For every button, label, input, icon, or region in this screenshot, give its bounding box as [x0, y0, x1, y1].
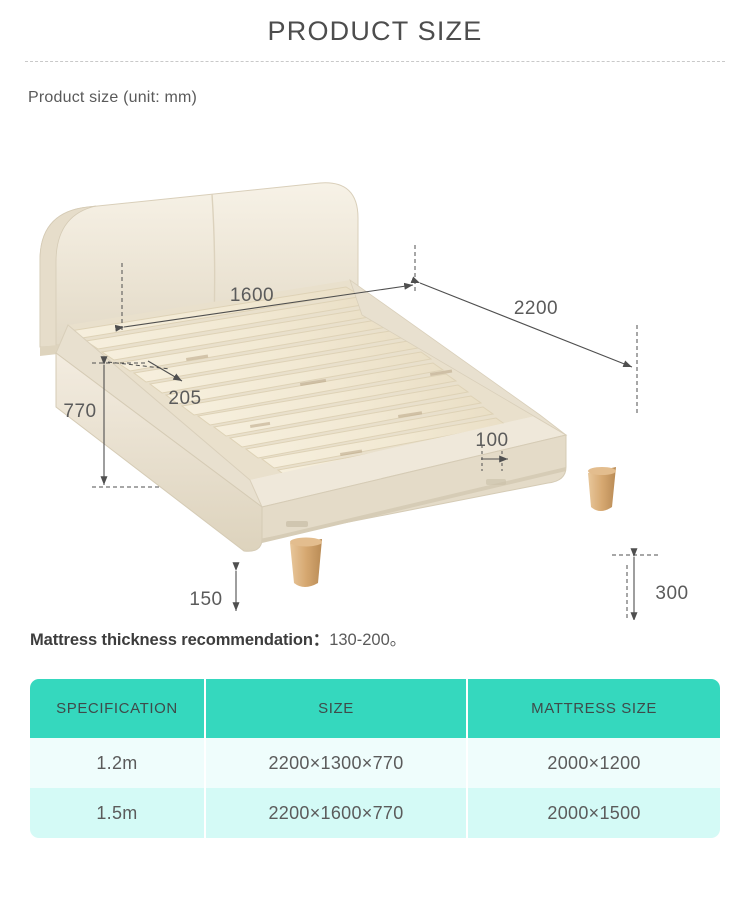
column-header-specification: SPECIFICATION [30, 679, 206, 738]
product-size-page: PRODUCT SIZE Product size (unit: mm) [0, 0, 750, 922]
title-divider [25, 61, 725, 62]
table-row: 1.2m 2200×1300×770 2000×1200 [30, 738, 720, 788]
specification-table: SPECIFICATION SIZE MATTRESS SIZE 1.2m 22… [30, 679, 720, 838]
page-title: PRODUCT SIZE [0, 0, 750, 47]
table-row: 1.5m 2200×1600×770 2000×1500 [30, 788, 720, 838]
cell-specification: 1.2m [30, 738, 206, 788]
column-header-mattress-size: MATTRESS SIZE [468, 679, 720, 738]
dim-headboard-width: 1600 [230, 285, 274, 306]
bed-illustration [40, 183, 616, 587]
dim-base-total-height: 300 [655, 583, 688, 604]
mattress-note-value: 130-200。 [329, 631, 406, 649]
unit-subtitle: Product size (unit: mm) [28, 89, 750, 107]
cell-specification: 1.5m [30, 788, 206, 838]
column-header-size: SIZE [206, 679, 468, 738]
dim-headboard-thickness: 205 [168, 388, 201, 409]
dim-frame-height: 150 [189, 589, 222, 610]
cell-size: 2200×1300×770 [206, 738, 468, 788]
cell-mattress-size: 2000×1200 [468, 738, 720, 788]
dim-rail-edge: 100 [475, 430, 508, 451]
dim-headboard-height: 770 [63, 401, 96, 422]
cell-mattress-size: 2000×1500 [468, 788, 720, 838]
bed-dimension-diagram: 1600 2200 205 770 100 150 150 1520 300 [0, 115, 750, 620]
dim-bed-length: 2200 [514, 298, 558, 319]
cell-size: 2200×1600×770 [206, 788, 468, 838]
mattress-note-label: Mattress thickness recommendation： [30, 631, 329, 649]
mattress-thickness-note: Mattress thickness recommendation：130-20… [30, 626, 750, 650]
table-header-row: SPECIFICATION SIZE MATTRESS SIZE [30, 679, 720, 738]
